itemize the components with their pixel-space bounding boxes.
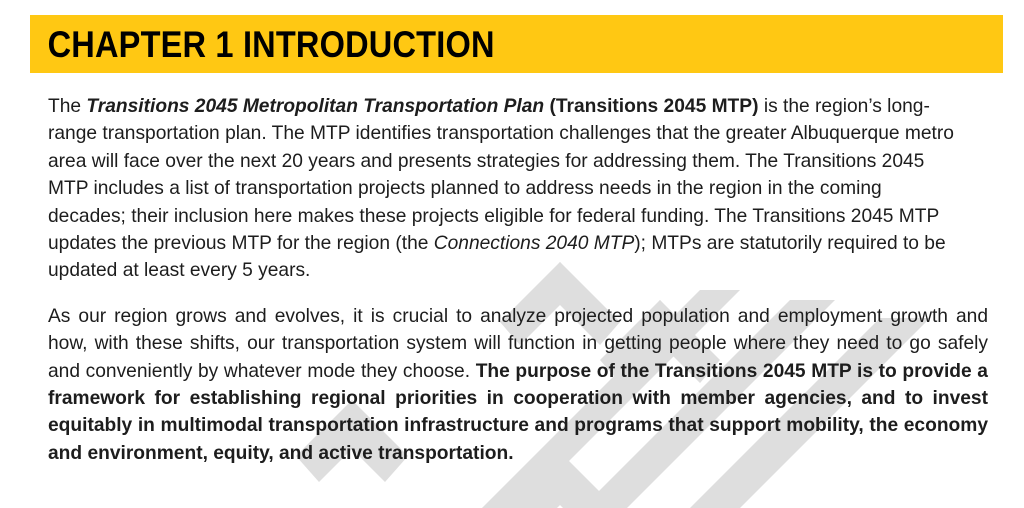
plan-abbreviation: (Transitions 2045 MTP) — [544, 96, 758, 117]
previous-plan-title: Connections 2040 MTP — [434, 233, 635, 254]
intro-text-body: is the region’s long-range transportatio… — [48, 96, 954, 254]
paragraph-purpose: As our region grows and evolves, it is c… — [48, 303, 988, 467]
plan-title-emphasis: Transitions 2045 Metropolitan Transporta… — [86, 96, 544, 117]
chapter-banner: CHAPTER 1 INTRODUCTION — [30, 15, 1003, 73]
intro-text-lead: The — [48, 96, 86, 117]
paragraph-intro: The Transitions 2045 Metropolitan Transp… — [48, 93, 960, 285]
chapter-title: CHAPTER 1 INTRODUCTION — [30, 26, 495, 63]
document-page: CHAPTER 1 INTRODUCTION The Transitions 2… — [0, 0, 1024, 508]
body-copy: The Transitions 2045 Metropolitan Transp… — [48, 93, 988, 467]
